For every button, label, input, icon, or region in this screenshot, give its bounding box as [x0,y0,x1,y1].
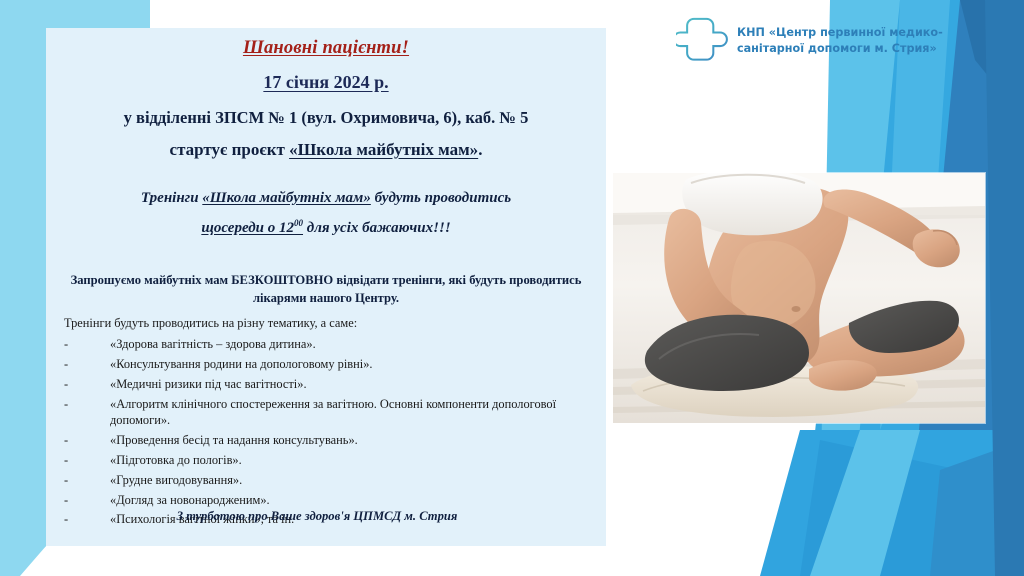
project-suffix-text: . [478,140,482,159]
right-shard-bottom-1 [760,430,1024,576]
topic-bullet-dash: - [64,356,68,372]
schedule-project-name-text: «Школа майбутніх мам» [202,190,371,206]
greeting-text: Шановні пацієнти! [243,38,409,58]
topic-label: «Підготовка до пологів». [110,453,242,467]
right-shard-bottom-4 [930,440,1024,576]
project-name-text: «Школа майбутніх мам» [289,140,478,159]
topic-bullet-dash: - [64,492,68,508]
schedule-time-label: щосереди о 12 [201,220,294,236]
event-location: у відділенні ЗПСМ № 1 (вул. Охримовича, … [46,108,606,128]
topic-label: «Проведення бесід та надання консультува… [110,433,358,447]
topic-label: «Консультування родини на допологовому р… [110,357,373,371]
pregnant-woman-photo [613,173,985,423]
topic-list-item: -«Грудне вигодовування». [64,472,594,488]
logo-organization-name: КНП «Центр первинної медико-санітарної д… [737,25,943,57]
medical-cross-outline-icon [676,16,728,66]
topic-bullet-dash: - [64,336,68,352]
schedule-audience-text: для усіх бажаючих!!! [303,220,451,236]
left-wedge-shape-lower [0,0,46,576]
logo-text-line-1: КНП «Центр первинної медико- [737,26,943,39]
project-prefix-text: стартує проєкт [170,140,290,159]
invitation-text: Запрошуємо майбутніх мам БЕЗКОШТОВНО від… [64,271,588,308]
topic-label: «Алгоритм клінічного спостереження за ва… [110,397,556,427]
event-date: 17 січня 2024 р. [46,72,606,93]
topic-bullet-dash: - [64,396,68,412]
schedule-time-text: щосереди о 1200 [201,220,303,236]
topic-label: «Догляд за новонародженим». [110,493,270,507]
topic-bullet-dash: - [64,472,68,488]
announcement-panel: Шановні пацієнти! 17 січня 2024 р. у від… [46,28,606,546]
topic-label: «Медичні ризики під час вагітності». [110,377,307,391]
schedule-line-2: щосереди о 1200 для усіх бажаючих!!! [46,218,606,237]
topics-list: -«Здорова вагітність – здорова дитина».-… [64,336,594,531]
topic-list-item: -«Алгоритм клінічного спостереження за в… [64,396,594,429]
event-location-text: у відділенні ЗПСМ № 1 (вул. Охримовича, … [124,108,529,127]
schedule-prefix-text: Тренінги [141,190,202,206]
left-wedge-taper [46,0,150,28]
right-shard-bottom-2 [800,440,1024,576]
photo-illustration [613,173,985,423]
topic-list-item: -«Проведення бесід та надання консультув… [64,432,594,448]
topic-label: «Грудне вигодовування». [110,473,242,487]
topic-list-item: -«Підготовка до пологів». [64,452,594,468]
event-date-text: 17 січня 2024 р. [263,72,388,92]
project-launch-line: стартує проєкт «Школа майбутніх мам». [46,140,606,160]
topic-label: «Здорова вагітність – здорова дитина». [110,337,316,351]
slide-canvas: КНП «Центр первинної медико-санітарної д… [0,0,1024,576]
right-shard-bottom-3 [810,430,920,576]
topic-list-item: -«Здорова вагітність – здорова дитина». [64,336,594,352]
right-shard-sliver [985,0,1024,576]
schedule-time-superscript: 00 [294,218,303,228]
topics-intro-text: Тренінги будуть проводитись на різну тем… [64,316,588,331]
organization-logo: КНП «Центр первинної медико-санітарної д… [676,16,943,66]
schedule-suffix-text: будуть проводитись [371,190,511,206]
right-shard-top-accent [960,0,1024,120]
greeting-heading: Шановні пацієнти! [46,38,606,59]
schedule-line-1: Тренінги «Школа майбутніх мам» будуть пр… [46,190,606,207]
closing-signature: З турботою про Ваше здоров'я ЦПМСД м. Ст… [46,509,606,524]
logo-text-line-2: санітарної допомоги м. Стрия» [737,42,937,55]
left-wedge-tail [0,330,46,576]
topic-bullet-dash: - [64,452,68,468]
topic-bullet-dash: - [64,376,68,392]
topic-list-item: -«Консультування родини на допологовому … [64,356,594,372]
topic-bullet-dash: - [64,432,68,448]
topic-list-item: -«Догляд за новонародженим». [64,492,594,508]
topic-list-item: -«Медичні ризики під час вагітності». [64,376,594,392]
